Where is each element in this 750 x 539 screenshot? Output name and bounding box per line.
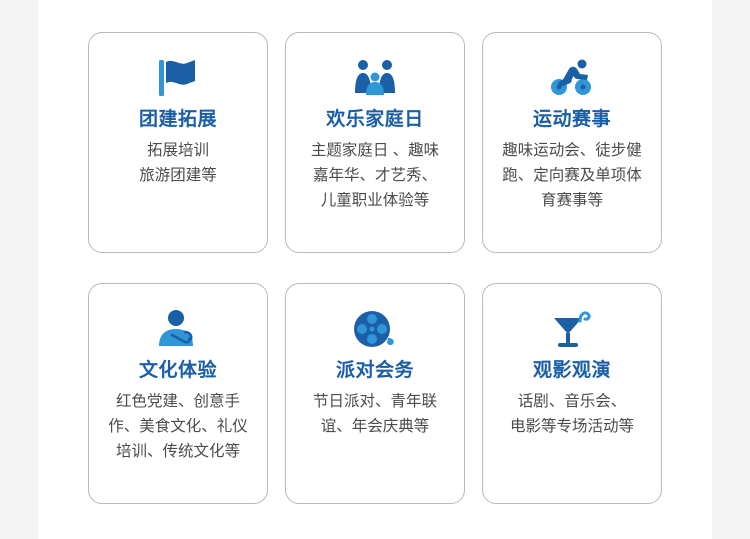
content-panel: 团建拓展 拓展培训 旅游团建等 欢乐家庭日 主题家庭日 、趣味 嘉年华、: [38, 0, 712, 539]
card-title: 派对会务: [336, 358, 414, 384]
card-title: 文化体验: [139, 358, 217, 384]
card-title: 运动赛事: [533, 107, 611, 133]
film-reel-icon: [349, 306, 401, 352]
card-description: 主题家庭日 、趣味 嘉年华、才艺秀、 儿童职业体验等: [295, 138, 455, 213]
service-category-grid: 团建拓展 拓展培训 旅游团建等 欢乐家庭日 主题家庭日 、趣味 嘉年华、: [88, 32, 662, 504]
page-root: 团建拓展 拓展培训 旅游团建等 欢乐家庭日 主题家庭日 、趣味 嘉年华、: [0, 0, 750, 539]
party-member-icon: [152, 306, 204, 352]
card-description: 趣味运动会、徒步健 跑、定向赛及单项体 育赛事等: [492, 138, 652, 213]
service-card-team-building[interactable]: 团建拓展 拓展培训 旅游团建等: [88, 32, 268, 253]
card-description: 红色党建、创意手 作、美食文化、礼仪 培训、传统文化等: [98, 389, 258, 464]
service-card-culture-experience[interactable]: 文化体验 红色党建、创意手 作、美食文化、礼仪 培训、传统文化等: [88, 283, 268, 504]
card-description: 话剧、音乐会、 电影等专场活动等: [492, 389, 652, 439]
card-title: 团建拓展: [139, 107, 217, 133]
service-card-party-events[interactable]: 派对会务 节日派对、青年联 谊、年会庆典等: [285, 283, 465, 504]
card-title: 观影观演: [533, 358, 611, 384]
card-description: 拓展培训 旅游团建等: [98, 138, 258, 188]
cyclist-icon: [546, 55, 598, 101]
family-icon: [349, 55, 401, 101]
cocktail-icon: [546, 306, 598, 352]
card-title: 欢乐家庭日: [326, 107, 424, 133]
service-card-shows-performances[interactable]: 观影观演 话剧、音乐会、 电影等专场活动等: [482, 283, 662, 504]
card-description: 节日派对、青年联 谊、年会庆典等: [295, 389, 455, 439]
service-card-family-day[interactable]: 欢乐家庭日 主题家庭日 、趣味 嘉年华、才艺秀、 儿童职业体验等: [285, 32, 465, 253]
flag-icon: [152, 55, 204, 101]
service-card-sports-events[interactable]: 运动赛事 趣味运动会、徒步健 跑、定向赛及单项体 育赛事等: [482, 32, 662, 253]
